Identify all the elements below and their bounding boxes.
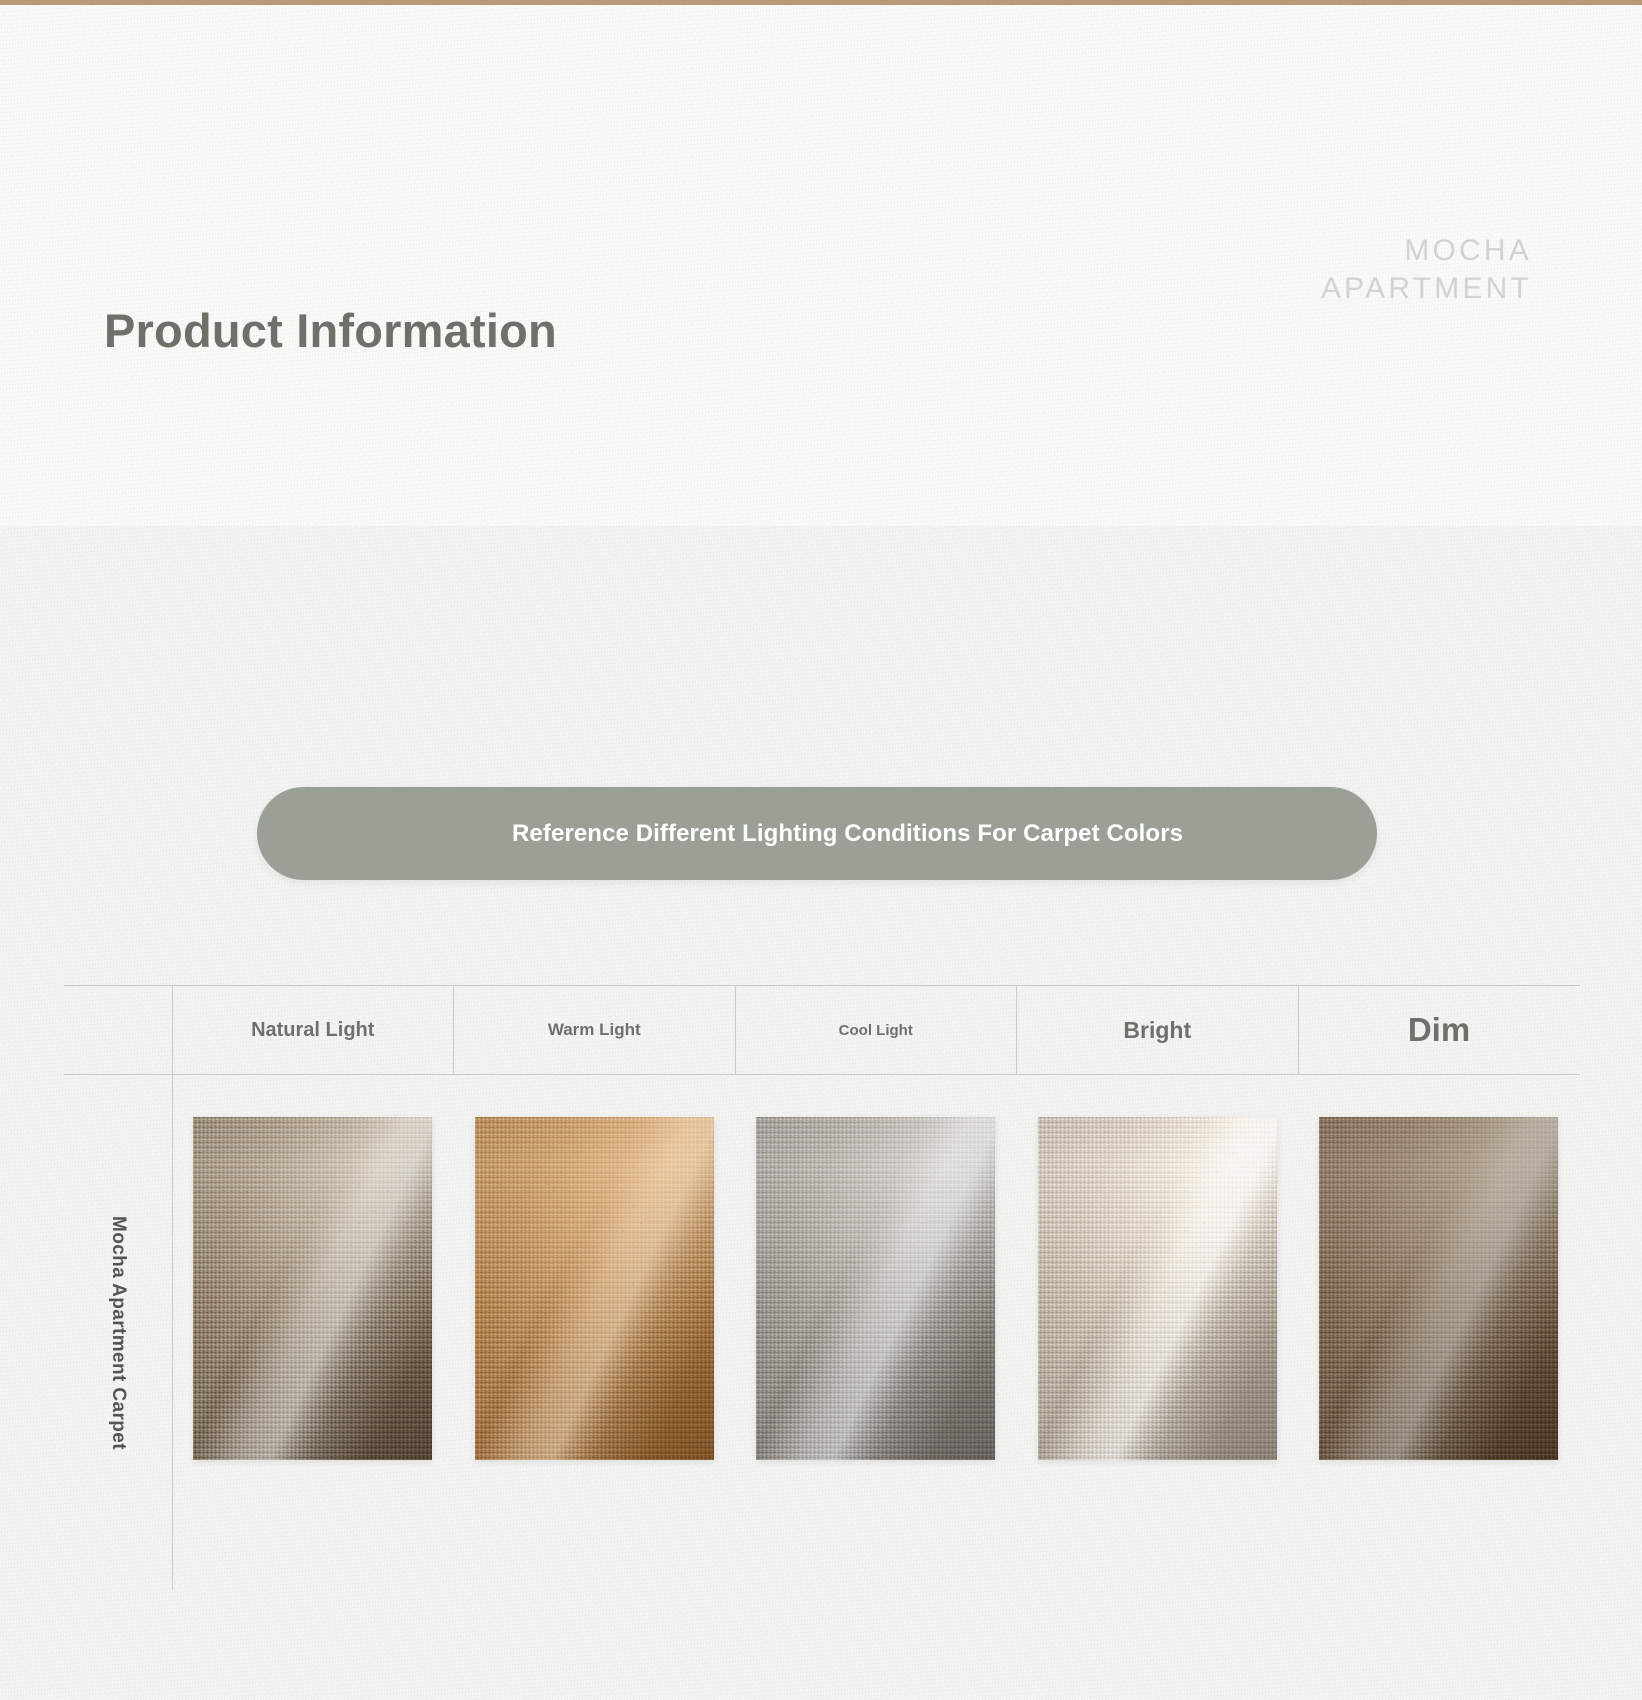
swatch-tone-overlay — [1319, 1117, 1558, 1460]
top-accent-strip — [0, 0, 1642, 5]
table-row: Mocha Apartment Carpet — [64, 1075, 1580, 1591]
column-header-natural-light: Natural Light — [172, 986, 454, 1075]
swatch-tone-overlay — [475, 1117, 714, 1460]
carpet-swatch-warm-light — [475, 1117, 714, 1460]
lighting-comparison-table: Natural Light Warm Light Cool Light Brig… — [64, 985, 1580, 1590]
page-title: Product Information — [104, 303, 557, 358]
section-banner-pill: Reference Different Lighting Conditions … — [257, 787, 1377, 880]
carpet-swatch-bright — [1038, 1117, 1277, 1460]
brand-line-apartment: APARTMENT — [1321, 270, 1532, 308]
lighting-comparison-table-wrapper: Natural Light Warm Light Cool Light Brig… — [64, 985, 1580, 1590]
cell-natural-light — [172, 1075, 454, 1591]
cell-bright — [1017, 1075, 1299, 1591]
cell-warm-light — [454, 1075, 736, 1591]
carpet-swatch-natural-light — [193, 1117, 432, 1460]
column-header-bright: Bright — [1017, 986, 1299, 1075]
column-header-warm-light: Warm Light — [454, 986, 736, 1075]
swatch-tone-overlay — [193, 1117, 432, 1460]
section-banner-text-line-2: pet Colors — [1063, 820, 1183, 847]
row-label-cell: Mocha Apartment Carpet — [64, 1075, 172, 1591]
carpet-swatch-cool-light — [756, 1117, 995, 1460]
row-label-mocha-apartment-carpet: Mocha Apartment Carpet — [107, 1215, 129, 1449]
carpet-swatch-dim — [1319, 1117, 1558, 1460]
section-banner-text-line-1: Reference Different Lighting Conditions … — [512, 820, 1063, 847]
table-header-row: Natural Light Warm Light Cool Light Brig… — [64, 986, 1580, 1075]
cell-cool-light — [735, 1075, 1017, 1591]
column-header-cool-light: Cool Light — [735, 986, 1017, 1075]
swatch-tone-overlay — [1038, 1117, 1277, 1460]
section-banner-text: Reference Different Lighting Conditions … — [257, 818, 1223, 850]
brand-logo: MOCHA APARTMENT — [1321, 232, 1532, 309]
brand-line-mocha: MOCHA — [1321, 232, 1532, 270]
cell-dim — [1298, 1075, 1580, 1591]
column-header-dim: Dim — [1298, 986, 1580, 1075]
swatch-tone-overlay — [756, 1117, 995, 1460]
table-corner-cell — [64, 986, 172, 1075]
